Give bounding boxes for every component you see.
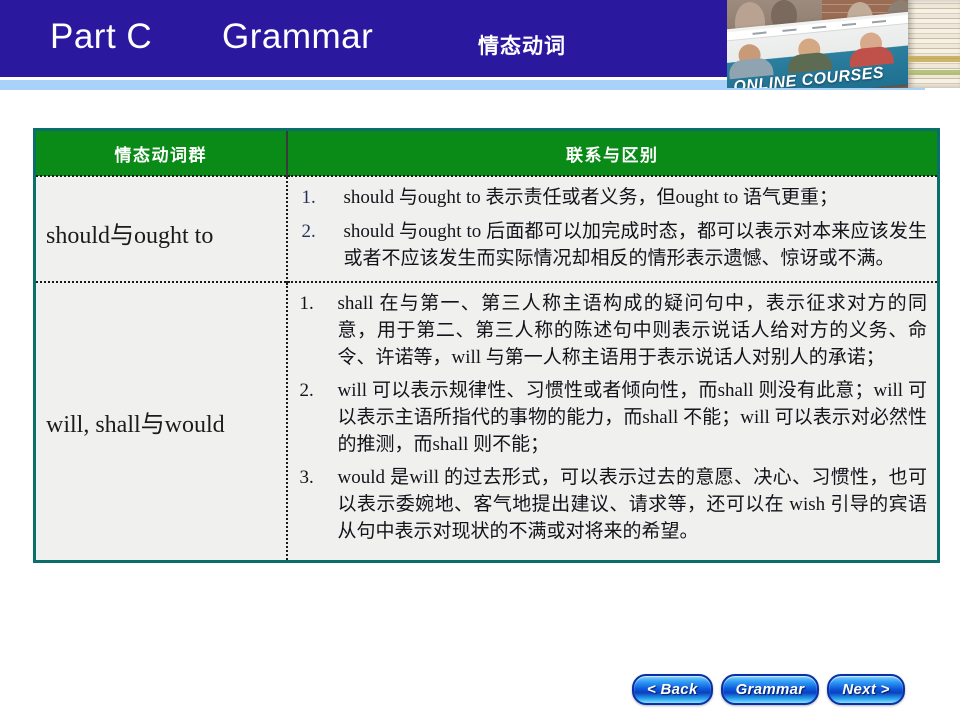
list-item: 3. would 是will 的过去形式，可以表示过去的意愿、决心、习惯性，也可… [296, 465, 928, 546]
list-item: 2. will 可以表示规律性、习惯性或者倾向性，而shall 则没有此意；wi… [296, 378, 928, 459]
list-item-text: would 是will 的过去形式，可以表示过去的意愿、决心、习惯性，也可以表示… [338, 467, 928, 542]
list-item-number: 2. [302, 219, 336, 246]
list-item: 2. should 与ought to 后面都可以加完成时态，都可以表示对本来应… [296, 219, 928, 273]
table-row: will, shall与would 1. shall 在与第一、第三人称主语构成… [35, 282, 939, 561]
back-button-label: < Back [647, 681, 698, 698]
list-item-text: will 可以表示规律性、习惯性或者倾向性，而shall 则没有此意；will … [338, 380, 928, 455]
grammar-button[interactable]: Grammar [721, 674, 820, 705]
table-row: should与ought to 1. should 与ought to 表示责任… [35, 176, 939, 282]
table-header-verb-group: 情态动词群 [35, 130, 287, 177]
table-header-relations: 联系与区别 [287, 130, 939, 177]
grammar-button-label: Grammar [736, 681, 805, 698]
verb-group-should-ought: should与ought to [35, 176, 287, 282]
modal-verbs-table: 情态动词群 联系与区别 should与ought to 1. should 与o… [33, 128, 940, 563]
online-courses-photo: ONLINE COURSES [727, 0, 960, 88]
list-item-number: 2. [300, 378, 334, 405]
list-item-text: should 与ought to 表示责任或者义务，但ought to 语气更重… [344, 187, 839, 208]
list-item-number: 1. [302, 185, 336, 212]
description-list: 1. should 与ought to 表示责任或者义务，但ought to 语… [296, 185, 928, 273]
list-item: 1. should 与ought to 表示责任或者义务，但ought to 语… [296, 185, 928, 212]
header-title-group: Part C Grammar 情态动词 [0, 0, 730, 77]
page-title-section: Grammar [222, 17, 373, 57]
page-subtitle-chinese: 情态动词 [478, 30, 566, 60]
list-item-text: shall 在与第一、第三人称主语构成的疑问句中，表示征求对方的同意，用于第二、… [338, 293, 928, 368]
back-button[interactable]: < Back [632, 674, 713, 705]
list-item-number: 3. [300, 465, 334, 492]
next-button[interactable]: Next > [827, 674, 904, 705]
list-item-text: should 与ought to 后面都可以加完成时态，都可以表示对本来应该发生… [344, 221, 928, 269]
table-header-row: 情态动词群 联系与区别 [35, 130, 939, 177]
page-title-part: Part C [50, 17, 152, 57]
list-item: 1. shall 在与第一、第三人称主语构成的疑问句中，表示征求对方的同意，用于… [296, 291, 928, 372]
list-item-number: 1. [300, 291, 334, 318]
stacked-books [908, 0, 960, 88]
description-cell-will-shall-would: 1. shall 在与第一、第三人称主语构成的疑问句中，表示征求对方的同意，用于… [287, 282, 939, 561]
description-list: 1. shall 在与第一、第三人称主语构成的疑问句中，表示征求对方的同意，用于… [296, 291, 928, 546]
next-button-label: Next > [842, 681, 889, 698]
description-cell-should-ought: 1. should 与ought to 表示责任或者义务，但ought to 语… [287, 176, 939, 282]
verb-group-will-shall-would: will, shall与would [35, 282, 287, 561]
navigation-buttons: < Back Grammar Next > [632, 672, 932, 706]
